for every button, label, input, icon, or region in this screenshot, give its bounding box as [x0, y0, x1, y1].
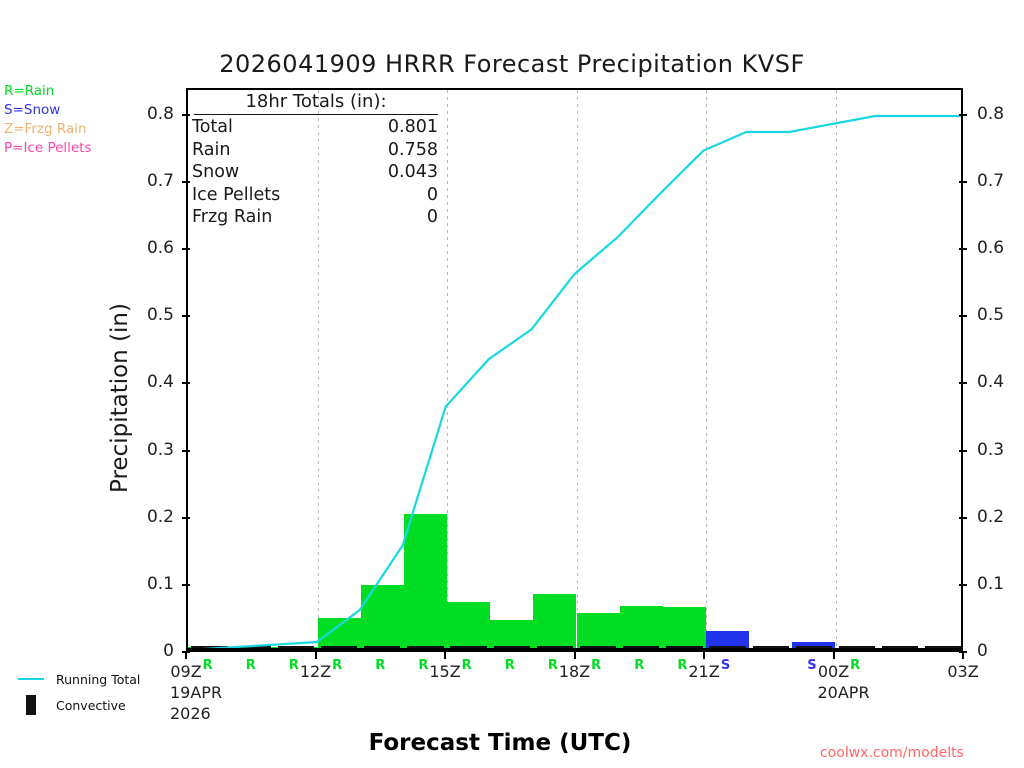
y-tick [959, 315, 967, 317]
y-tick [959, 114, 967, 116]
precip-type-letter: R [241, 658, 261, 673]
y-tick [182, 517, 190, 519]
totals-row-rain: Rain 0.758 [188, 139, 444, 162]
y-tick [182, 584, 190, 586]
totals-row-frzg-rain: Frzg Rain 0 [188, 206, 444, 229]
x-tick [315, 652, 317, 659]
y-tick [959, 517, 967, 519]
y-tick-label: 0.8 [977, 104, 1024, 124]
y-tick-label: 0.2 [977, 507, 1024, 527]
totals-header: 18hr Totals (in): [194, 90, 438, 115]
y-tick-label: 0 [100, 641, 174, 661]
precip-type-letter: S [716, 658, 736, 673]
totals-label-frzg-rain: Frzg Rain [192, 206, 272, 229]
y-tick [959, 584, 967, 586]
totals-value-total: 0.801 [388, 116, 438, 139]
x-axis-date-label: 20APR [818, 683, 870, 702]
y-tick-label: 0.7 [977, 171, 1024, 191]
precip-type-letter: R [543, 658, 563, 673]
precip-type-letter: R [629, 658, 649, 673]
y-tick [959, 382, 967, 384]
precip-type-letter: S [802, 658, 822, 673]
totals-label-rain: Rain [192, 139, 230, 162]
y-tick [182, 315, 190, 317]
precip-type-letter: R [672, 658, 692, 673]
x-tick [444, 652, 446, 659]
y-tick-label: 0.4 [977, 372, 1024, 392]
line-swatch-icon [18, 678, 44, 680]
y-tick-label: 0.1 [977, 574, 1024, 594]
legend-ice-pellets: P=Ice Pellets [4, 139, 154, 158]
chart-page: 2026041909 HRRR Forecast Precipitation K… [0, 0, 1024, 768]
y-tick-label: 0.3 [977, 440, 1024, 460]
precip-type-letter: R [457, 658, 477, 673]
precip-type-letter: R [370, 658, 390, 673]
precip-type-letter: R [198, 658, 218, 673]
y-tick [959, 450, 967, 452]
y-tick [182, 382, 190, 384]
y-axis-title: Precipitation (in) [107, 248, 133, 548]
y-tick-label: 0.2 [100, 507, 174, 527]
totals-label-ice-pellets: Ice Pellets [192, 184, 280, 207]
totals-row-ice-pellets: Ice Pellets 0 [188, 184, 444, 207]
totals-value-frzg-rain: 0 [427, 206, 438, 229]
legend-label-running-total: Running Total [56, 672, 140, 687]
x-tick-label: 03Z [923, 662, 1003, 681]
precip-type-letter: R [845, 658, 865, 673]
y-tick [959, 181, 967, 183]
x-tick [703, 652, 705, 659]
y-tick [182, 450, 190, 452]
precip-type-letter: R [500, 658, 520, 673]
totals-row-snow: Snow 0.043 [188, 161, 444, 184]
y-tick-label: 0.7 [100, 171, 174, 191]
box-swatch-icon [26, 695, 36, 715]
page-title: 2026041909 HRRR Forecast Precipitation K… [0, 50, 1024, 78]
totals-box: 18hr Totals (in): Total 0.801 Rain 0.758… [188, 90, 444, 229]
precip-type-letter: R [284, 658, 304, 673]
x-tick [574, 652, 576, 659]
legend-label-convective: Convective [56, 698, 126, 713]
totals-value-rain: 0.758 [388, 139, 438, 162]
x-tick [833, 652, 835, 659]
precip-type-letter: R [586, 658, 606, 673]
x-tick [185, 652, 187, 659]
totals-value-snow: 0.043 [388, 161, 438, 184]
legend-rain: R=Rain [4, 82, 154, 101]
watermark: coolwx.com/modelts [820, 745, 964, 761]
y-tick-label: 0.6 [977, 238, 1024, 258]
y-tick-label: 0.4 [100, 372, 174, 392]
y-tick-label: 0.5 [100, 305, 174, 325]
precip-type-letter: R [327, 658, 347, 673]
y-tick-label: 0.3 [100, 440, 174, 460]
precip-type-letter: R [413, 658, 433, 673]
y-tick-label: 0.1 [100, 574, 174, 594]
y-tick-label: 0.5 [977, 305, 1024, 325]
x-axis-date-label: 2026 [170, 704, 211, 723]
totals-value-ice-pellets: 0 [427, 184, 438, 207]
zero-line [188, 648, 961, 650]
totals-row-total: Total 0.801 [188, 116, 444, 139]
x-axis-title: Forecast Time (UTC) [200, 730, 800, 756]
x-tick [962, 652, 964, 659]
totals-label-snow: Snow [192, 161, 239, 184]
y-tick-label: 0.8 [100, 104, 174, 124]
series-legend: Running Total Convective [10, 666, 140, 718]
legend-item-convective: Convective [10, 692, 140, 718]
y-tick-label: 0 [977, 641, 1024, 661]
y-tick [182, 248, 190, 250]
y-tick [959, 248, 967, 250]
x-axis-date-label: 19APR [170, 683, 222, 702]
totals-label-total: Total [192, 116, 233, 139]
legend-item-running-total: Running Total [10, 666, 140, 692]
y-tick-label: 0.6 [100, 238, 174, 258]
